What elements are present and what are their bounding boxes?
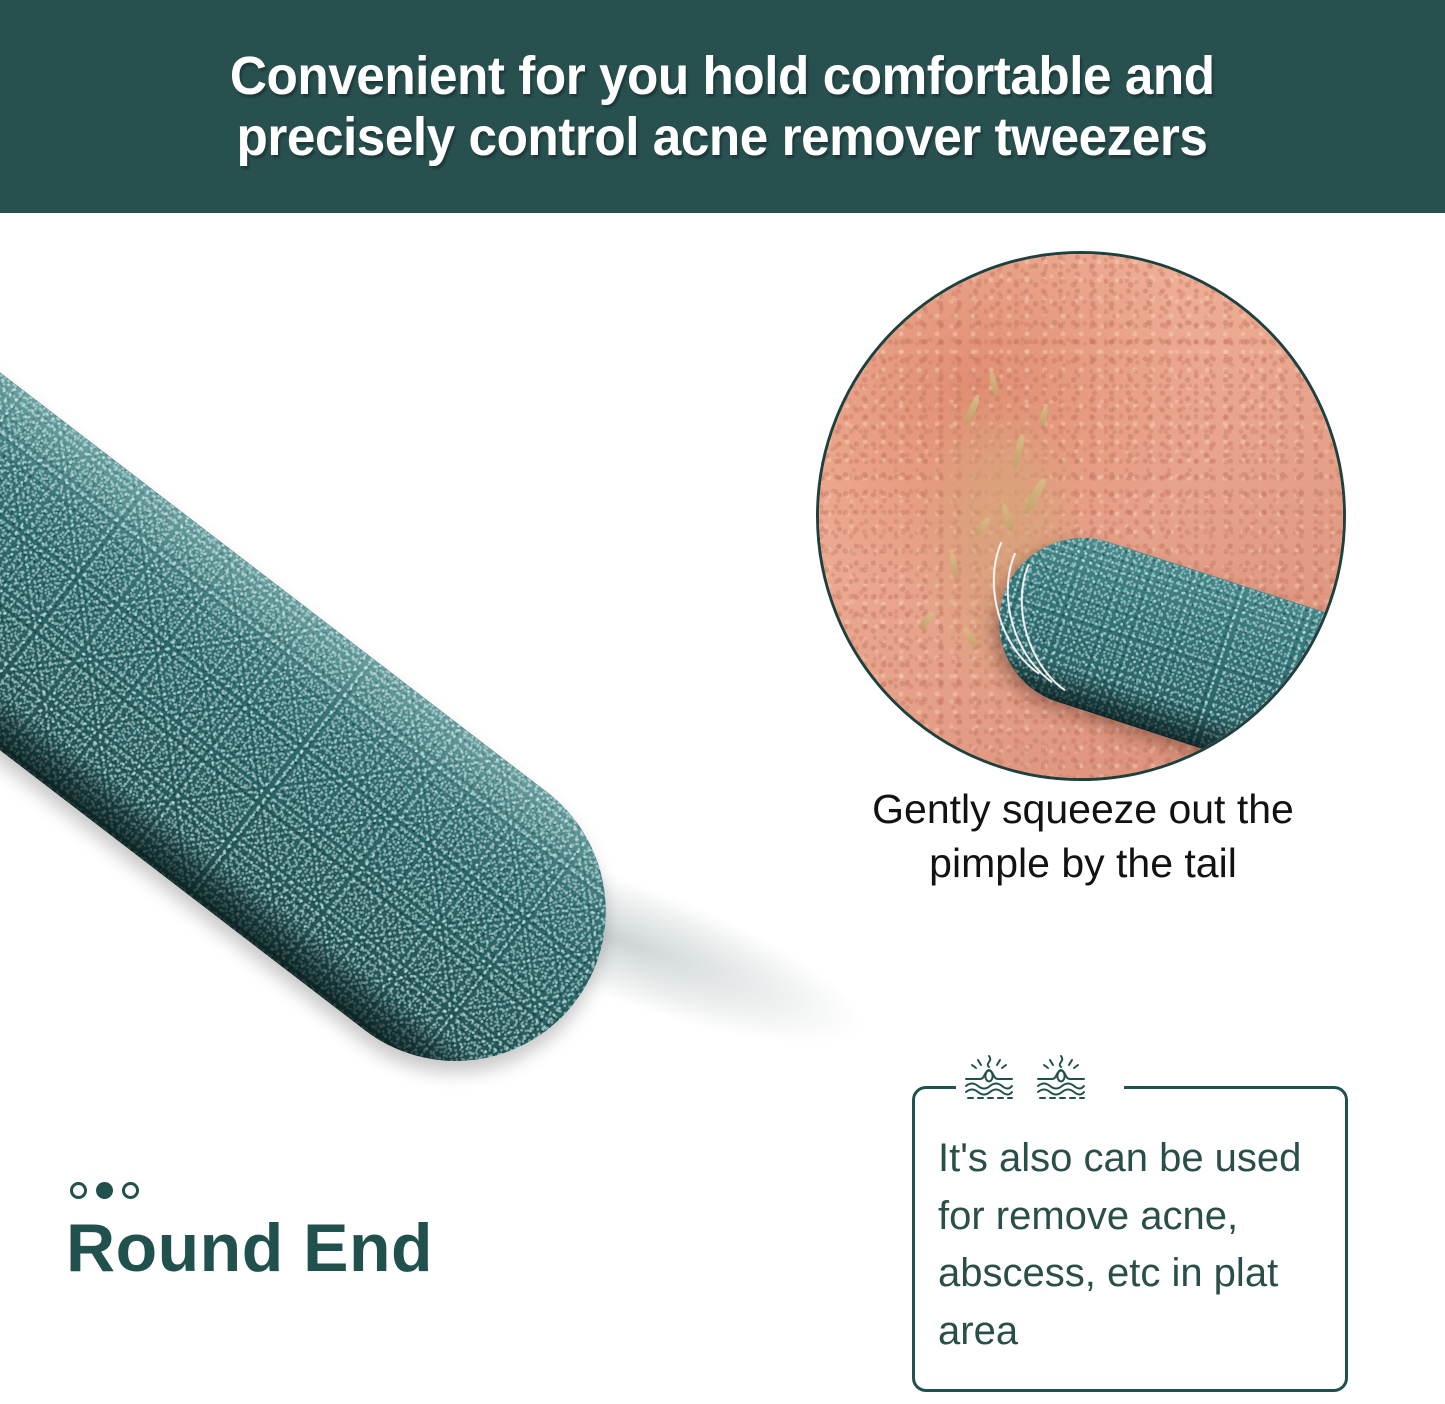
round-end-feature-label: Round End [66,1182,433,1282]
usage-demo-caption: Gently squeeze out the pimple by the tai… [818,782,1348,890]
usage-demo-caption-line-2: pimple by the tail [818,836,1348,890]
banner-headline-line-2: precisely control acne remover tweezers [237,107,1208,167]
usage-demo-circle-photo [816,251,1346,781]
dot-ring-icon [70,1182,87,1199]
product-infographic-page: Convenient for you hold comfortable and … [0,0,1445,1404]
header-banner: Convenient for you hold comfortable and … [0,0,1445,213]
dot-solid-icon [96,1182,113,1199]
usage-demo-caption-line-1: Gently squeeze out the [818,782,1348,836]
tweezer-product-photo [0,205,960,1195]
callout-text: It's also can be used for remove acne, a… [938,1130,1330,1360]
dots-decoration [66,1182,433,1199]
tweezer-textured-surface [0,205,666,1121]
usage-callout-box: It's also can be used for remove acne, a… [912,1086,1348,1392]
callout-icon-group [960,1046,1090,1104]
banner-headline-line-1: Convenient for you hold comfortable and [230,46,1215,106]
round-end-title: Round End [66,1214,433,1282]
pimple-skin-icon [960,1046,1018,1104]
dot-ring-icon [122,1182,139,1199]
tweezer-front-arm [0,205,666,1121]
pimple-skin-icon [1032,1046,1090,1104]
